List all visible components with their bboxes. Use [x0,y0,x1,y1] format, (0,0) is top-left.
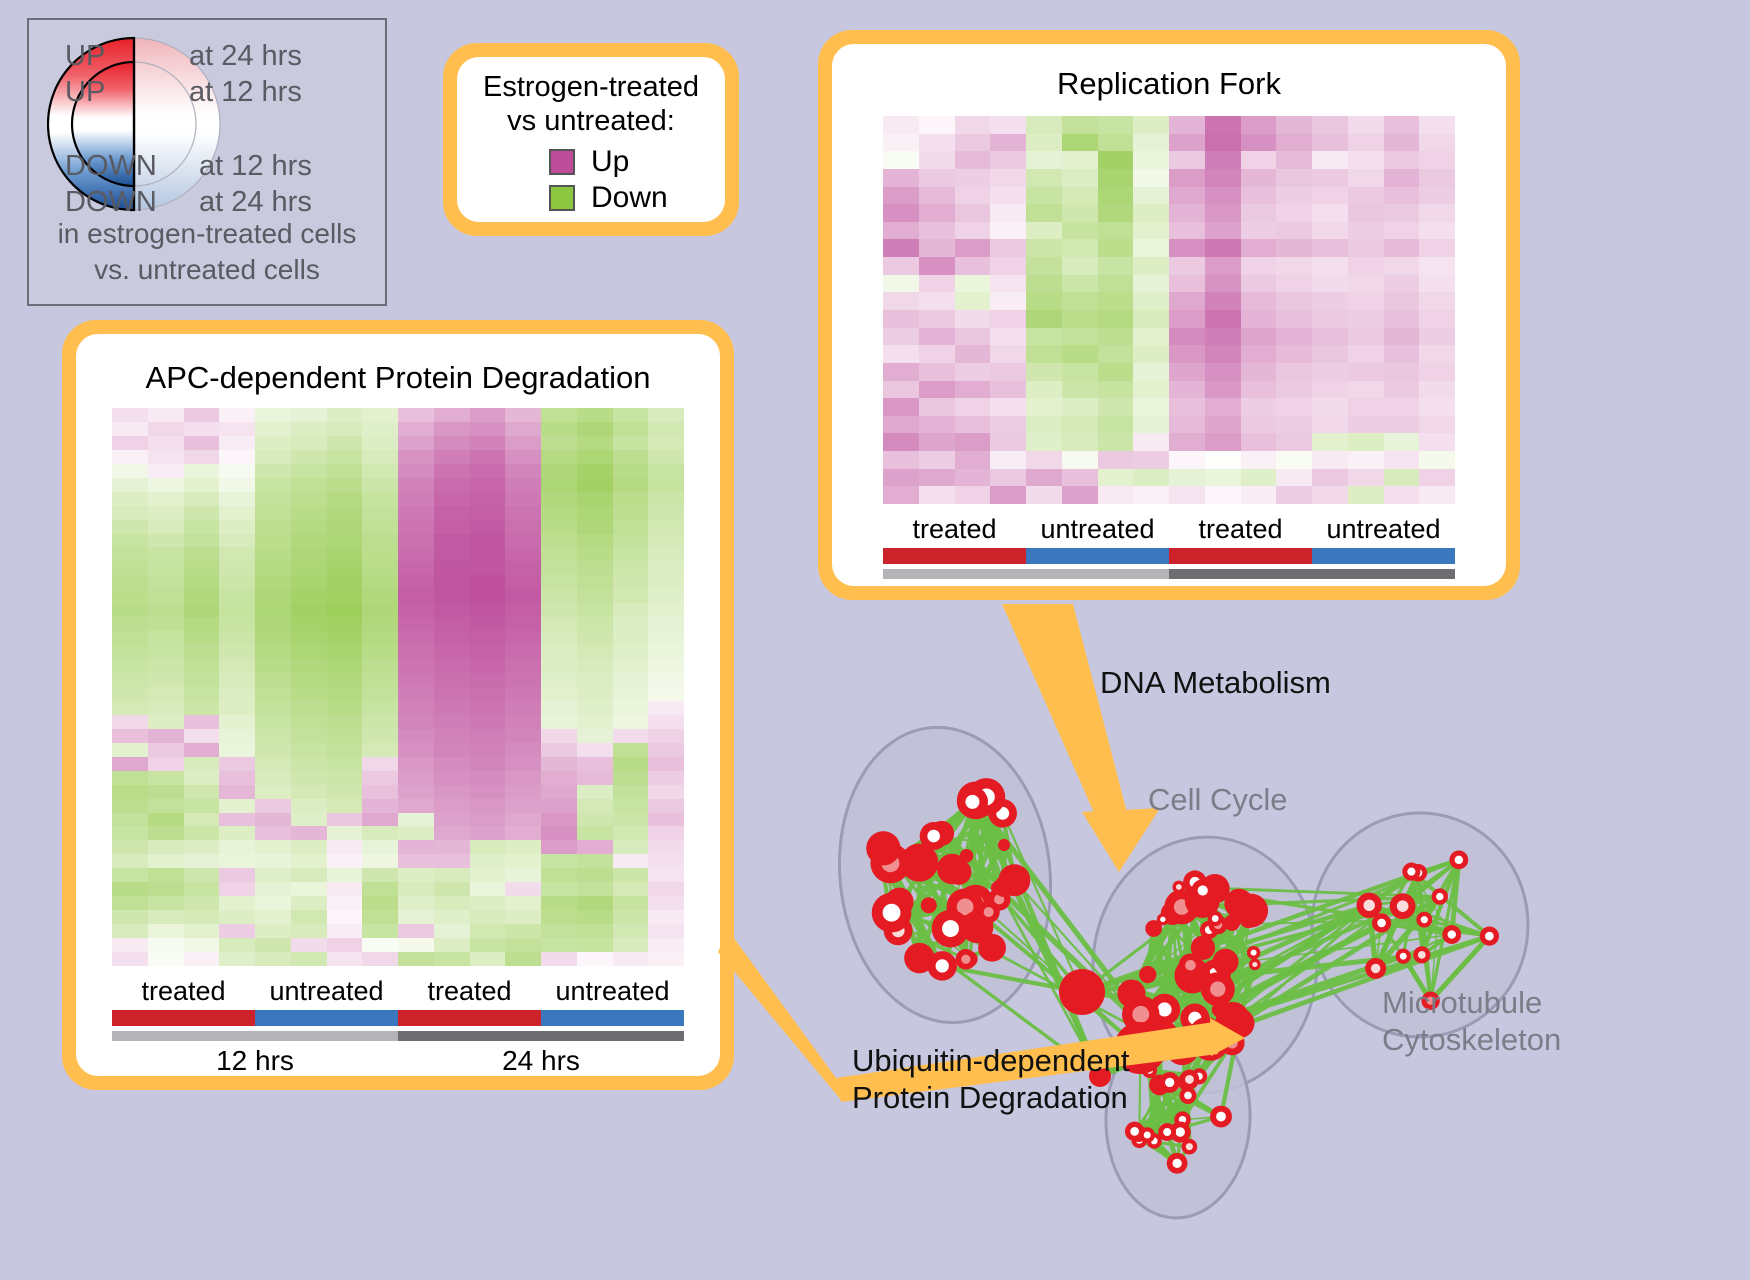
heatmap-cell [541,659,577,673]
heatmap-cell [362,645,398,659]
network-node[interactable] [1191,879,1214,902]
network-node[interactable] [1234,894,1268,928]
heatmap-cell [1026,416,1062,434]
heatmap-cell [541,952,577,966]
heatmap-cell [1098,292,1134,310]
heatmap-cell [990,187,1026,205]
heatmap-cell [990,486,1026,504]
heatmap-cell [541,854,577,868]
heatmap-cell [1276,222,1312,240]
network-node[interactable] [1059,969,1105,1015]
heatmap-cell [1062,169,1098,187]
heatmap-cell [398,799,434,813]
heatmap-cell [1276,169,1312,187]
heatmap-cell [255,701,291,715]
heatmap-cell [255,715,291,729]
heatmap-cell [1241,451,1277,469]
heatmap-cell [1062,292,1098,310]
heatmap-cell [434,687,470,701]
heatmap-cell [955,187,991,205]
heatmap-cell [1276,257,1312,275]
heatmap-cell [255,729,291,743]
heatmap-cell [219,729,255,743]
heatmap-cell [362,617,398,631]
heatmap-cell [1169,451,1205,469]
heatmap-cell [219,547,255,561]
heatmap-cell [112,506,148,520]
heatmap-cell [255,450,291,464]
heatmap-cell [434,729,470,743]
heatmap-cell [613,952,649,966]
heatmap-cell [112,464,148,478]
heatmap-cell [1384,363,1420,381]
heatmap-cell [990,416,1026,434]
heatmap-cell [434,757,470,771]
network-node[interactable] [921,897,937,913]
heatmap-cell [1384,486,1420,504]
network-node[interactable] [920,822,948,850]
heatmap-cell [541,645,577,659]
heatmap-cell [434,715,470,729]
heatmap-cell [1133,345,1169,363]
heatmap-cell [505,617,541,631]
network-node[interactable] [1402,863,1420,881]
heatmap-cell [327,687,363,701]
network-node[interactable] [956,949,977,970]
heatmap-cell [398,868,434,882]
heatmap-cell [613,757,649,771]
heatmap-cell [112,938,148,952]
heatmap-cell [505,701,541,715]
heatmap-cell [470,729,506,743]
heatmap-cell [541,408,577,422]
heatmap-cell [1276,328,1312,346]
heatmap-cell [184,840,220,854]
heatmap-cell [434,743,470,757]
heatmap-cell [577,547,613,561]
heatmap-cell [184,715,220,729]
heatmap-cell [148,785,184,799]
axis-condition-label: treated [883,514,1026,545]
network-node[interactable] [1194,1021,1224,1051]
network-node[interactable] [1357,893,1382,918]
heatmap-cell [1241,469,1277,487]
heatmap-cell [505,561,541,575]
heatmap-cell [648,868,684,882]
heatmap-cell [1384,169,1420,187]
heatmap-cell [919,310,955,328]
heatmap-cell [1348,433,1384,451]
network-node[interactable] [1449,850,1468,869]
heatmap-cell [919,486,955,504]
heatmap-cell [112,785,148,799]
heatmap-cell [184,534,220,548]
heatmap-cell [434,520,470,534]
heatmap-cell [1098,328,1134,346]
heatmap-cell [184,826,220,840]
heatmap-cell [613,492,649,506]
heatmap-cell [577,603,613,617]
heatmap-cell [1169,363,1205,381]
axis-apc-degradation: treated untreated treated untreated 12 h… [112,976,684,1076]
heatmap-cell [255,952,291,966]
heatmap-cell [541,478,577,492]
heatmap-cell [362,464,398,478]
heatmap-cell [1348,169,1384,187]
heatmap-cell [990,451,1026,469]
heatmap-cell [1169,381,1205,399]
heatmap-cell [1384,345,1420,363]
heatmap-cell [148,938,184,952]
cluster-label-line1: Ubiquitin-dependent [852,1043,1130,1080]
heatmap-cell [955,222,991,240]
network-node[interactable] [866,831,900,865]
heatmap-cell [362,813,398,827]
heatmap-cell [148,826,184,840]
heatmap-cell [362,924,398,938]
network-node[interactable] [1416,912,1432,928]
heatmap-cell [255,771,291,785]
heatmap-cell [990,292,1026,310]
network-node[interactable] [1212,1003,1226,1017]
heatmap-cell [955,416,991,434]
heatmap-cell [919,416,955,434]
heatmap-cell [990,469,1026,487]
cluster-label-ubiquitin-degradation: Ubiquitin-dependent Protein Degradation [852,1043,1130,1116]
heatmap-cell [990,151,1026,169]
heatmap-cell [327,408,363,422]
heatmap-cell [1098,187,1134,205]
heatmap-cell [613,659,649,673]
heatmap-cell [505,464,541,478]
network-node[interactable] [1139,966,1156,983]
network-node[interactable] [1210,1106,1232,1128]
network-node[interactable] [1139,1127,1155,1143]
heatmap-cell [1419,151,1455,169]
heatmap-cell [470,743,506,757]
heatmap-cell [434,547,470,561]
network-node[interactable] [946,859,971,884]
heatmap-cell [1312,257,1348,275]
heatmap-cell [1241,275,1277,293]
heatmap-cell [1419,345,1455,363]
heatmap-cell [470,589,506,603]
heatmap-cell [1241,169,1277,187]
network-node[interactable] [957,786,988,817]
heatmap-cell [1169,239,1205,257]
heatmap-cell [255,659,291,673]
heatmap-cell [470,547,506,561]
heatmap-cell [434,575,470,589]
heatmap-cell [505,799,541,813]
heatmap-cell [362,520,398,534]
panel-title-apc-degradation: APC-dependent Protein Degradation [76,360,720,396]
heatmap-cell [327,478,363,492]
heatmap-cell [505,826,541,840]
network-node[interactable] [1247,946,1260,959]
heatmap-cell [1312,433,1348,451]
heatmap-cell [219,938,255,952]
network-node[interactable] [1413,946,1430,963]
heatmap-cell [362,771,398,785]
heatmap-cell [541,938,577,952]
network-node[interactable] [1442,925,1461,944]
heatmap-cell [1205,328,1241,346]
heatmap-cell [291,882,327,896]
heatmap-cell [577,840,613,854]
heatmap-cell [398,436,434,450]
network-node[interactable] [1212,949,1238,975]
heatmap-cell [505,659,541,673]
network-node[interactable] [1180,1070,1200,1090]
heatmap-cell [577,422,613,436]
heatmap-cell [1205,381,1241,399]
heatmap-cell [505,603,541,617]
network-node[interactable] [1480,926,1499,945]
heatmap-cell [1169,416,1205,434]
heatmap-cell [148,408,184,422]
heatmap-cell [327,659,363,673]
heatmap-cell [184,617,220,631]
heatmap-cell [1241,381,1277,399]
heatmap-cell [1169,257,1205,275]
heatmap-cell [255,813,291,827]
heatmap-cell [577,910,613,924]
heatmap-cell [505,938,541,952]
heatmap-cell [883,292,919,310]
color-key-box: UP at 24 hrs UP at 12 hrs DOWN at 12 hrs… [27,18,387,306]
network-node[interactable] [1390,893,1416,919]
heatmap-cell [1276,310,1312,328]
network-node[interactable] [1208,911,1223,926]
network-node[interactable] [932,910,970,948]
heatmap-cell [883,310,919,328]
heatmap-cell [470,868,506,882]
heatmap-cell [362,743,398,757]
heatmap-cell [148,450,184,464]
heatmap-cell [1348,275,1384,293]
heatmap-cell [470,506,506,520]
network-node[interactable] [1167,1153,1188,1174]
heatmap-cell [990,116,1026,134]
heatmap-cell [1384,116,1420,134]
heatmap-cell [434,645,470,659]
heatmap-cell [291,408,327,422]
heatmap-cell [1419,381,1455,399]
heatmap-cell [434,771,470,785]
heatmap-cell [577,757,613,771]
network-node[interactable] [998,839,1010,851]
heatmap-cell [577,924,613,938]
heatmap-cell [883,451,919,469]
heatmap-cell [1276,187,1312,205]
network-node[interactable] [1157,913,1169,925]
heatmap-cell [1348,345,1384,363]
heatmap-cell [1384,469,1420,487]
heatmap-cell [1312,222,1348,240]
heatmap-cell [434,854,470,868]
heatmap-cell [112,534,148,548]
heatmap-cell [291,450,327,464]
heatmap-cell [398,757,434,771]
heatmap-cell [1026,257,1062,275]
heatmap-cell [112,547,148,561]
heatmap-cell [1205,257,1241,275]
network-node[interactable] [977,901,999,923]
heatmap-cell [184,520,220,534]
heatmap-cell [541,757,577,771]
heatmap-cell [470,952,506,966]
heatmap-cell [1384,239,1420,257]
heatmap-cell [1062,433,1098,451]
heatmap-cell [1348,381,1384,399]
heatmap-cell [1133,328,1169,346]
heatmap-cell [1276,239,1312,257]
heatmap-cell [919,328,955,346]
heatmap-cell [398,785,434,799]
heatmap-cell [1026,204,1062,222]
heatmap-cell [219,910,255,924]
heatmap-cell [505,868,541,882]
heatmap-cell [219,687,255,701]
heatmap-cell [883,151,919,169]
heatmap-cell [470,520,506,534]
heatmap-cell [434,785,470,799]
heatmap-cell [184,575,220,589]
heatmap-cell [1026,345,1062,363]
heatmap-cell [648,743,684,757]
heatmap-cell [883,187,919,205]
network-node[interactable] [1432,888,1448,904]
heatmap-cell [1205,469,1241,487]
heatmap-cell [648,701,684,715]
heatmap-cell [648,617,684,631]
heatmap-cell [398,840,434,854]
heatmap-cell [648,659,684,673]
heatmap-cell [577,771,613,785]
heatmap-cell [148,882,184,896]
heatmap-cell [398,938,434,952]
heatmap-cell [112,575,148,589]
heatmap-cell [112,882,148,896]
heatmap-cell [1133,310,1169,328]
heatmap-cell [362,854,398,868]
heatmap-cell [362,952,398,966]
heatmap-cell [148,896,184,910]
network-node[interactable] [1365,958,1386,979]
heatmap-cell [112,603,148,617]
heatmap-cell [1169,328,1205,346]
heatmap-cell [577,464,613,478]
heatmap-cell [148,701,184,715]
heatmap-cell [505,645,541,659]
heatmap-cell [470,813,506,827]
heatmap-cell [184,813,220,827]
heatmap-cell [434,478,470,492]
heatmap-cell [148,840,184,854]
heatmap-cell [577,520,613,534]
heatmap-cell [470,882,506,896]
cluster-label-dna-metabolism: DNA Metabolism [1100,665,1331,701]
heatmap-cell [505,631,541,645]
heatmap-cell [184,785,220,799]
heatmap-cell [255,506,291,520]
heatmap-cell [919,239,955,257]
heatmap-cell [577,785,613,799]
legend-items: Up Down [549,144,725,216]
heatmap-cell [541,492,577,506]
heatmap-cell [398,645,434,659]
heatmap-cell [1384,222,1420,240]
network-node[interactable] [1158,1123,1176,1141]
heatmap-cell [1098,433,1134,451]
heatmap-cell [434,868,470,882]
heatmap-cell [327,561,363,575]
heatmap-cell [184,882,220,896]
heatmap-cell [1062,222,1098,240]
heatmap-cell [255,743,291,757]
network-node[interactable] [1136,1018,1180,1062]
heatmap-cell [398,603,434,617]
heatmap-cell [1205,433,1241,451]
heatmap-cell [1348,469,1384,487]
heatmap-cell [577,882,613,896]
heatmap-cell [990,433,1026,451]
network-node[interactable] [1249,959,1261,971]
axis-timepoint-label: 24 hrs [1169,583,1455,586]
legend-label-up: Up [591,147,629,177]
network-node[interactable] [1396,949,1411,964]
network-node[interactable] [1159,1072,1180,1093]
heatmap-cell [1276,345,1312,363]
heatmap-cell [541,729,577,743]
heatmap-cell [648,938,684,952]
heatmap-cell [255,422,291,436]
heatmap-cell [1241,187,1277,205]
heatmap-cell [362,631,398,645]
cluster-label-line1: Microtubule [1382,985,1561,1022]
network-node[interactable] [1179,953,1203,977]
heatmap-cell [1419,486,1455,504]
heatmap-cell [291,506,327,520]
heatmap-cell [291,464,327,478]
heatmap-cell [362,603,398,617]
heatmap-cell [577,715,613,729]
heatmap-cell [577,478,613,492]
heatmap-cell [398,771,434,785]
heatmap-cell [541,924,577,938]
heatmap-cell [148,478,184,492]
heatmap-cell [1241,204,1277,222]
heatmap-cell [505,450,541,464]
heatmap-cell [955,345,991,363]
network-node[interactable] [872,893,912,933]
heatmap-cell [577,813,613,827]
heatmap-cell [1026,469,1062,487]
network-node[interactable] [994,877,1014,897]
heatmap-cell [955,239,991,257]
heatmap-cell [184,938,220,952]
heatmap-cell [541,589,577,603]
heatmap-cell [1205,134,1241,152]
heatmap-cell [1276,451,1312,469]
heatmap-cell [219,785,255,799]
heatmap-cell [1062,416,1098,434]
heatmap-cell [613,701,649,715]
heatmap-cell [1312,328,1348,346]
network-node[interactable] [904,943,934,973]
heatmap-cell [148,617,184,631]
